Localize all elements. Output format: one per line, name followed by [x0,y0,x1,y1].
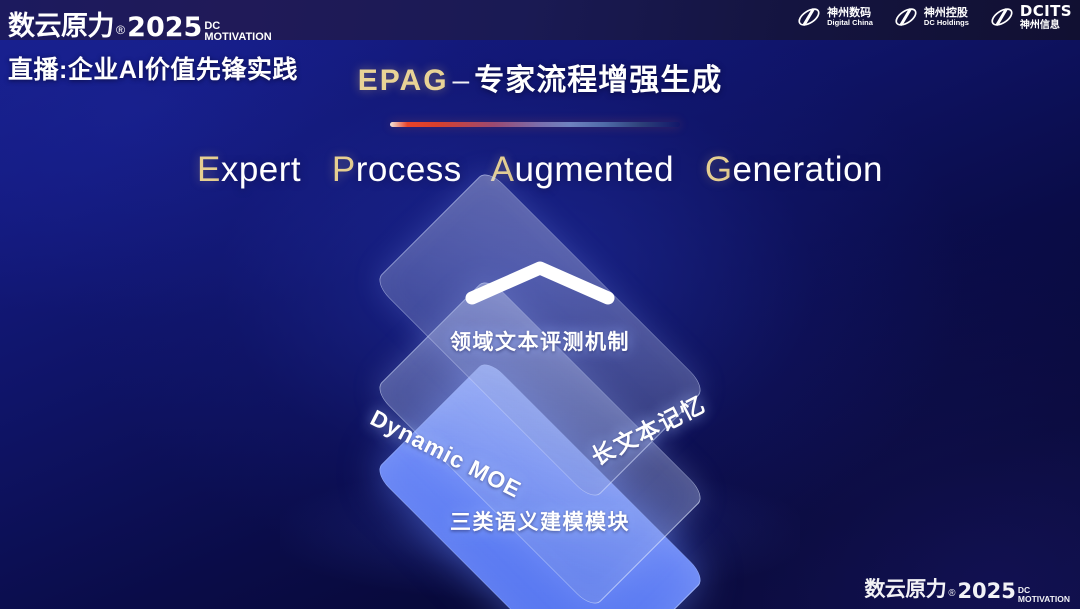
partner-logo-dc-holdings: 神州控股 DC Holdings [893,4,969,30]
english-subtitle: Expert Process Augmented Generation [0,150,1080,190]
brand-motivation-label: MOTIVATION [204,32,271,43]
brand-registered-mark: ® [116,23,125,37]
presentation-slide: 数云原力 ® 2025 DC MOTIVATION 神州数码 Digital C… [0,0,1080,609]
partner-logo-dcits: DCITS 神州信息 [989,3,1072,31]
swoosh-logo-icon [893,4,919,30]
watermark-sublockup: DC MOTIVATION [1018,586,1070,603]
partner-logo-group: 神州数码 Digital China 神州控股 DC Holdings [796,3,1072,31]
brand-year: 2025 [127,12,202,43]
brand-name-cn: 数云原力 [8,4,114,43]
title-chinese: 专家流程增强生成 [474,64,722,97]
subtitle-rest: ugmented [514,150,674,189]
partner-logo-digital-china: 神州数码 Digital China [796,4,873,30]
subtitle-word-augmented: Augmented [491,150,675,189]
subtitle-space [684,150,694,189]
title-dash: – [449,64,475,97]
title-divider [390,122,680,127]
subtitle-word-process: Process [332,150,462,189]
diagram-layer-bottom-label: 三类语义建模模块 [0,506,1080,536]
partner-text-digital-china: 神州数码 Digital China [827,7,873,28]
layer-stack-diagram: 领域文本评测机制 Dynamic MOE 长文本记忆 三类语义建模模块 [0,218,1080,578]
partner-name-cn: DCITS [1020,3,1072,20]
brand-watermark: 数云原力 ® 2025 DC MOTIVATION [864,573,1070,603]
subtitle-space [311,150,321,189]
partner-text-dc-holdings: 神州控股 DC Holdings [924,7,969,28]
swoosh-logo-icon [796,4,822,30]
subtitle-initial: E [197,150,221,189]
partner-name-en: Digital China [827,19,873,27]
subtitle-word-expert: Expert [197,150,301,189]
subtitle-rest: rocess [356,150,462,189]
swoosh-logo-icon [989,4,1015,30]
watermark-name-cn: 数云原力 [864,573,946,603]
subtitle-initial: P [332,150,356,189]
subtitle-word-generation: Generation [705,150,883,189]
brand-sublockup: DC MOTIVATION [204,21,271,43]
subtitle-rest: eneration [733,150,883,189]
chevron-up-icon [462,258,618,306]
diagram-layer-top-label: 领域文本评测机制 [0,326,1080,356]
subtitle-rest: xpert [221,150,301,189]
subtitle-initial: G [705,150,733,189]
title-acronym: EPAG [358,64,449,97]
watermark-motivation-label: MOTIVATION [1018,595,1070,604]
partner-name-en: 神州信息 [1020,20,1072,31]
watermark-year: 2025 [957,579,1015,603]
brand-logo: 数云原力 ® 2025 DC MOTIVATION [8,4,272,43]
page-title: EPAG–专家流程增强生成 [0,55,1080,99]
partner-text-dcits: DCITS 神州信息 [1020,3,1072,31]
watermark-registered-mark: ® [948,588,955,599]
partner-name-en: DC Holdings [924,19,969,27]
